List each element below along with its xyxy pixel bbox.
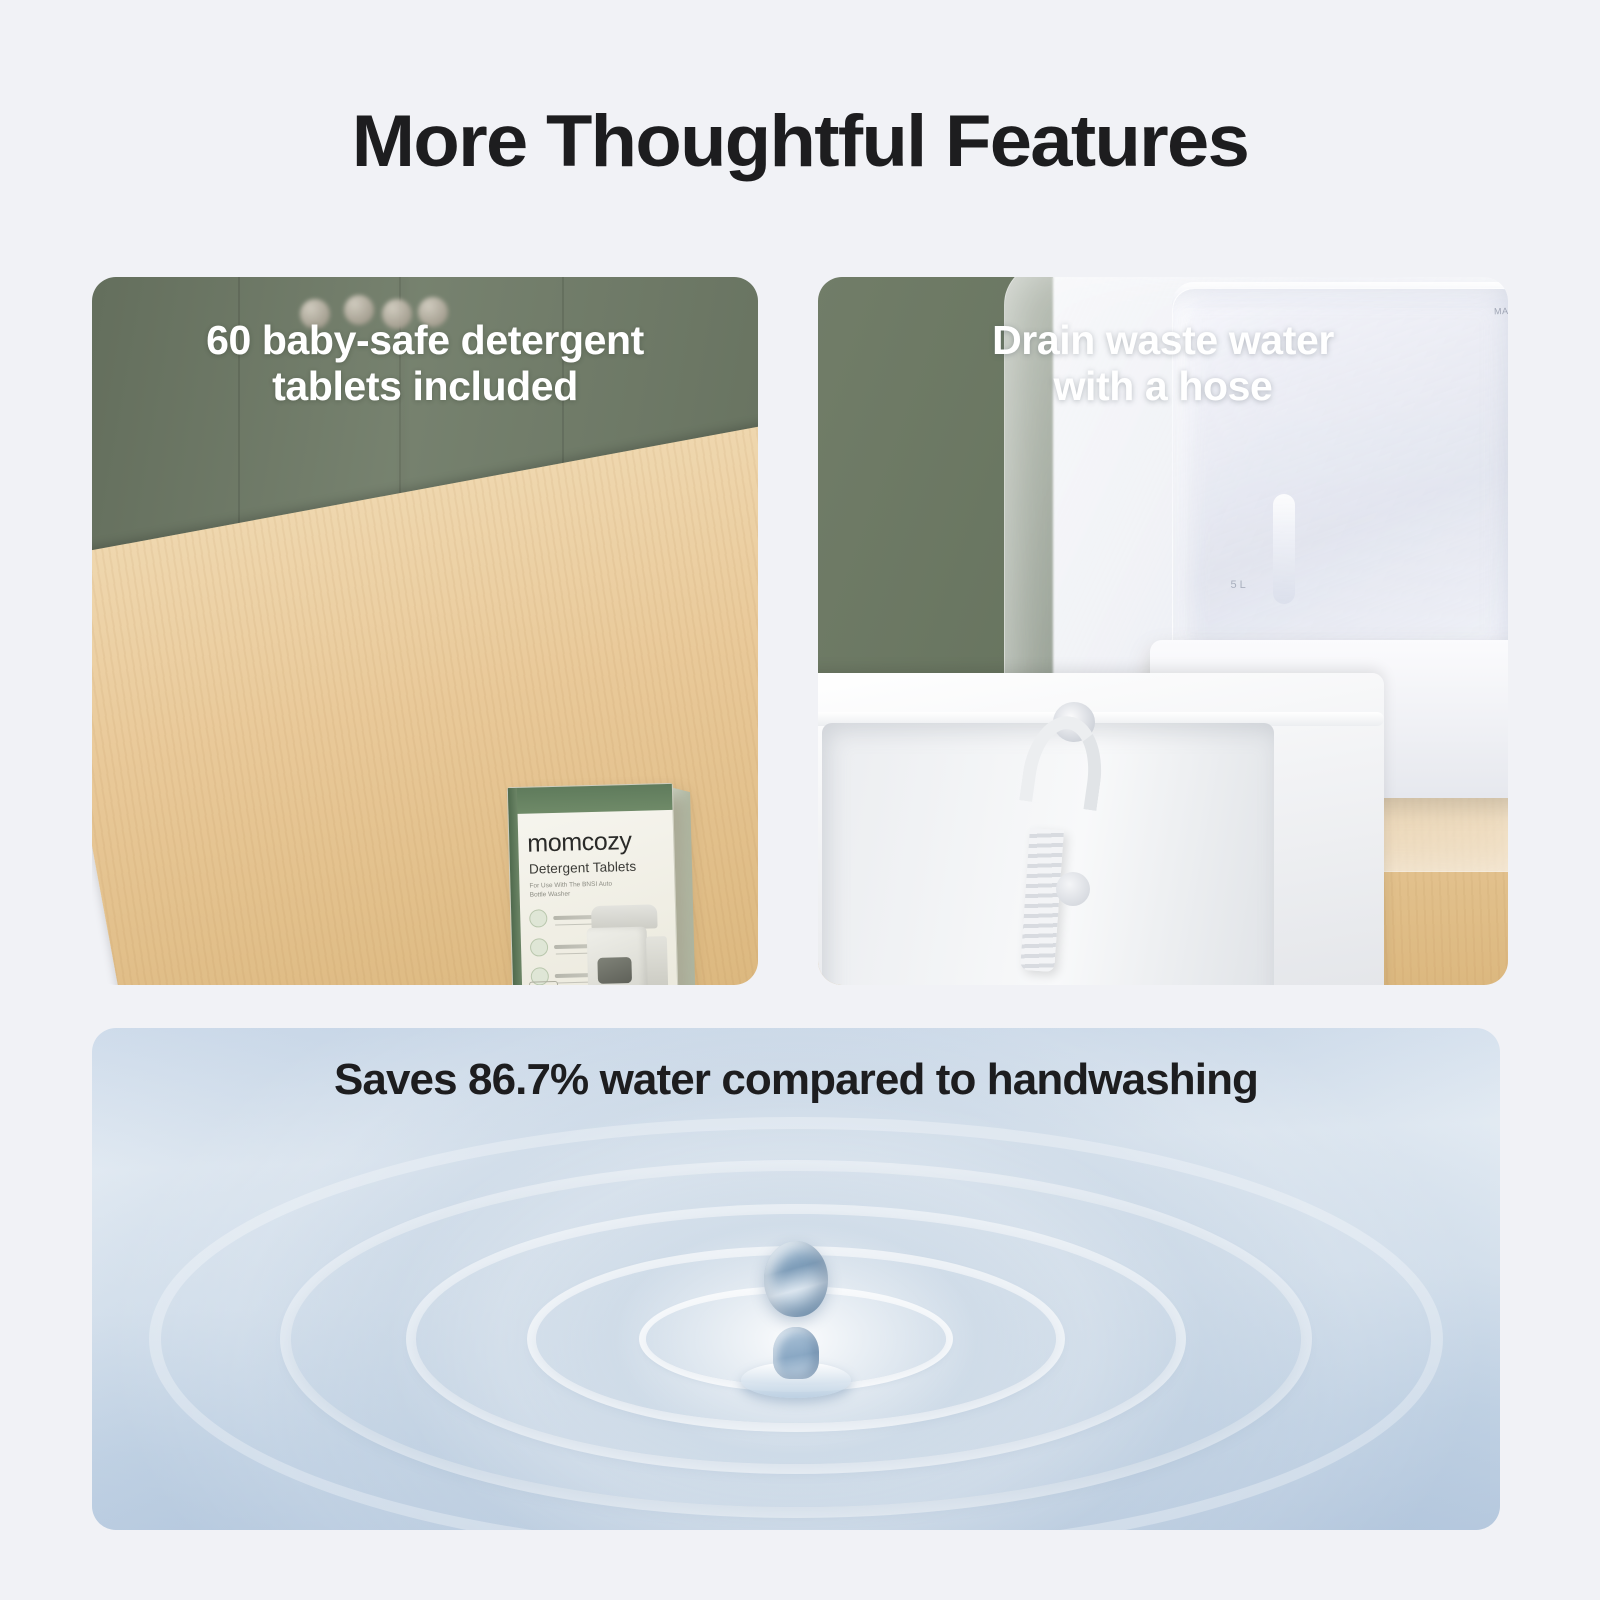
caption-line-2: with a hose [818,364,1508,410]
caption-line-2: tablets included [92,364,758,410]
caption-line-1: Drain waste water [818,318,1508,364]
kitchen-sink [818,673,1384,985]
tank-center-post [1273,494,1295,604]
detergent-box-brand: momcozy [527,826,664,859]
hose-clip [1056,872,1090,906]
tank-max-marking: MAX [1494,306,1508,317]
caption-water-savings: Saves 86.7% water compared to handwashin… [92,1055,1500,1104]
caption-line-1: 60 baby-safe detergent [92,318,758,364]
detergent-box-product: Detergent Tablets [529,859,637,877]
detergent-box-front: momcozy Detergent Tablets For Use With T… [507,783,679,985]
caption-tablets: 60 baby-safe detergent tablets included [92,318,758,410]
page-title: More Thoughtful Features [0,104,1600,181]
tank-capacity-marking: 5 L [1230,579,1245,591]
water-droplet [764,1241,828,1317]
bottle-washer-illustration [582,904,668,985]
feature-bullet-icon [530,938,548,956]
detergent-box: momcozy Detergent Tablets For Use With T… [507,783,679,985]
feature-bullet-icon [529,909,547,927]
water-splash-column [773,1327,819,1379]
tablet-count-badge: 60 Tablets [529,981,559,985]
detergent-box-top-band [508,784,673,814]
detergent-box-fine-print: For Use With The BNSI Auto Bottle Washer [529,879,621,900]
caption-hose: Drain waste water with a hose [818,318,1508,410]
